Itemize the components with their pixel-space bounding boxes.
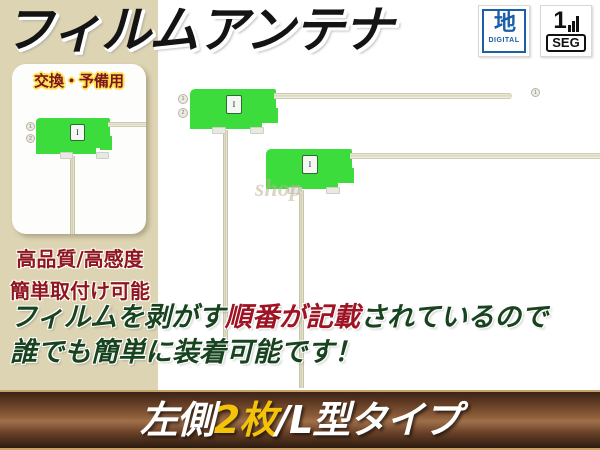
banner-prefix: 左側 <box>140 398 214 442</box>
antenna-upper-chip-label: I <box>226 95 242 114</box>
description-line-1-part-a: フィルムを剥がす <box>10 302 225 333</box>
oneseg-number: 1 <box>553 10 566 32</box>
feature-line-2: 簡単取付け可能 <box>4 275 156 304</box>
banner-count: 2枚 <box>214 398 276 442</box>
antenna-cable-vertical <box>70 156 75 234</box>
digital-logo: 地 DIGITAL <box>478 5 530 57</box>
digital-logo-word: DIGITAL <box>489 37 520 44</box>
cable-end-marker: 1 <box>531 88 540 97</box>
product-image: shop shop フィルムアンテナ 地 DIGITAL 1 SEG 交換・予備… <box>0 0 600 450</box>
bottom-banner: 左側2枚/L型タイプ <box>0 390 600 450</box>
product-title-text: フィルムアンテナ <box>4 2 444 58</box>
antenna-lower-cable-horizontal <box>350 153 600 159</box>
antenna-upper-tab-left <box>212 127 226 134</box>
product-title: フィルムアンテナ <box>4 2 444 60</box>
antenna-upper-dot-1: 1 <box>178 94 188 104</box>
antenna-lower-notch <box>338 168 354 183</box>
antenna-upper-cable-horizontal <box>274 93 512 99</box>
antenna-tab-left <box>60 152 73 159</box>
description-line-1-part-b: されているので <box>360 302 548 333</box>
signal-bars-icon <box>568 15 579 32</box>
antenna-upper-dot-2: 2 <box>178 108 188 118</box>
feature-line-1: 高品質/高感度 <box>4 243 156 272</box>
banner-suffix: /L型タイプ <box>276 398 460 442</box>
antenna-tab-right <box>96 152 109 159</box>
antenna-cable-horizontal <box>108 122 146 127</box>
oneseg-logo: 1 SEG <box>540 5 592 57</box>
antenna-lower-chip-label: I <box>302 155 318 174</box>
description-line-1: フィルムを剥がす順番が記載されているので <box>10 302 596 334</box>
antenna-lower-tab-right <box>326 187 340 194</box>
oneseg-word: SEG <box>546 34 585 52</box>
digital-logo-glyph: 地 <box>494 12 514 36</box>
closeup-inset-card: 交換・予備用 1 2 I <box>12 64 146 234</box>
antenna-marker-dot-1: 1 <box>26 122 35 131</box>
antenna-upper-notch <box>262 108 278 123</box>
antenna-film-notch <box>100 136 112 150</box>
antenna-upper-tab-right <box>250 127 264 134</box>
digital-logo-frame: 地 DIGITAL <box>482 9 526 53</box>
replacement-badge: 交換・予備用 <box>34 70 124 91</box>
antenna-marker-dot-2: 2 <box>26 134 35 143</box>
description-line-1-highlight: 順番が記載 <box>225 302 360 333</box>
oneseg-logo-top: 1 <box>553 10 578 32</box>
antenna-chip-label: I <box>70 124 85 141</box>
bottom-banner-text: 左側2枚/L型タイプ <box>140 399 461 441</box>
certification-logos: 地 DIGITAL 1 SEG <box>478 5 592 57</box>
description-line-2: 誰でも簡単に装着可能です！ <box>10 337 596 369</box>
antenna-lower-tab-left <box>288 187 302 194</box>
